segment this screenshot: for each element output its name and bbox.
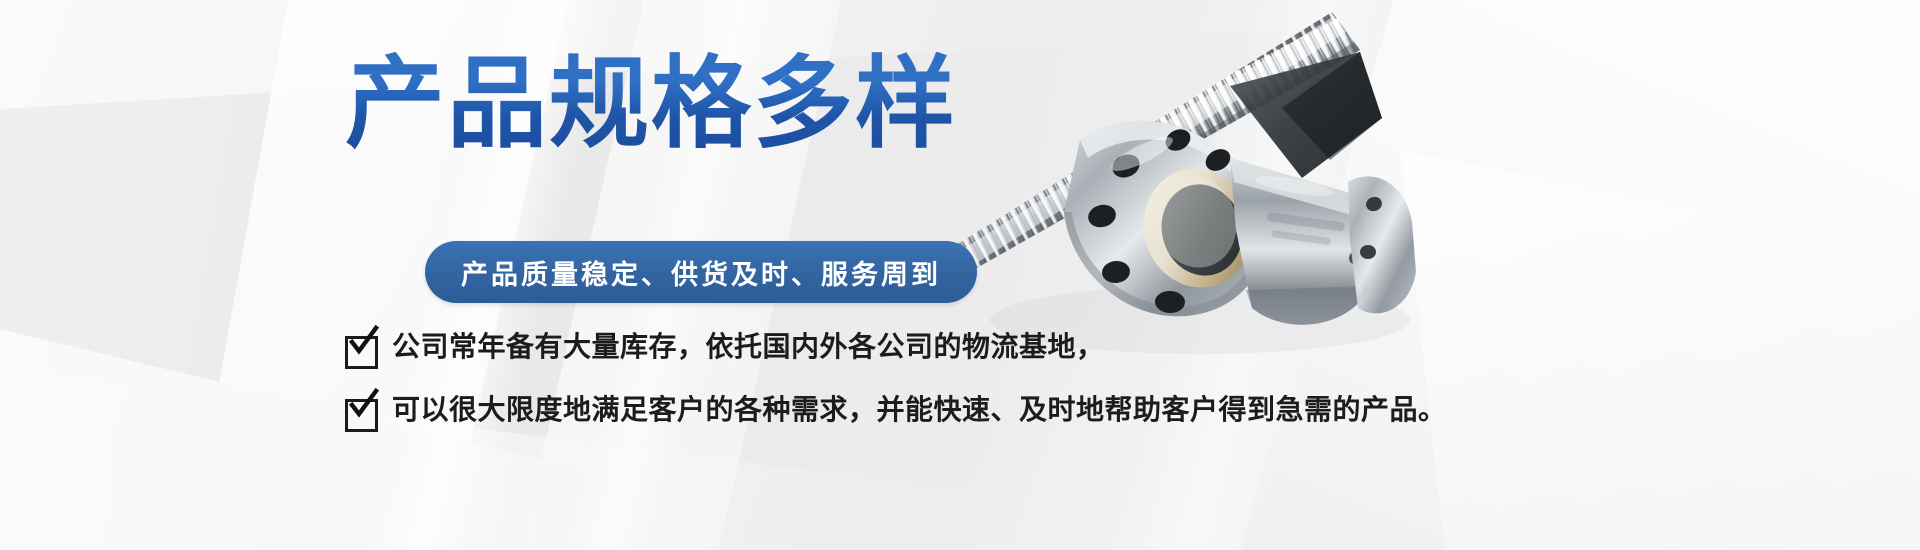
feature-list: 公司常年备有大量库存，依托国内外各公司的物流基地， 可以很大限度地满足客户的各种… [345, 330, 1447, 456]
checkbox-check-icon [345, 336, 378, 369]
list-item-label: 可以很大限度地满足客户的各种需求，并能快速、及时地帮助客户得到急需的产品。 [392, 393, 1447, 427]
page-title: 产品规格多样 [345, 52, 957, 157]
status-badge: 产品质量稳定、供货及时、服务周到 [425, 241, 977, 303]
promo-banner: 产品规格多样 产品质量稳定、供货及时、服务周到 公司常年备有大量库存，依托国内外… [0, 0, 1920, 550]
list-item: 可以很大限度地满足客户的各种需求，并能快速、及时地帮助客户得到急需的产品。 [345, 393, 1447, 432]
list-item-label: 公司常年备有大量库存，依托国内外各公司的物流基地， [392, 330, 1105, 364]
checkbox-check-icon [345, 399, 378, 432]
list-item: 公司常年备有大量库存，依托国内外各公司的物流基地， [345, 330, 1447, 369]
status-badge-label: 产品质量稳定、供货及时、服务周到 [461, 253, 941, 292]
banner-content: 产品规格多样 产品质量稳定、供货及时、服务周到 公司常年备有大量库存，依托国内外… [0, 0, 1920, 550]
